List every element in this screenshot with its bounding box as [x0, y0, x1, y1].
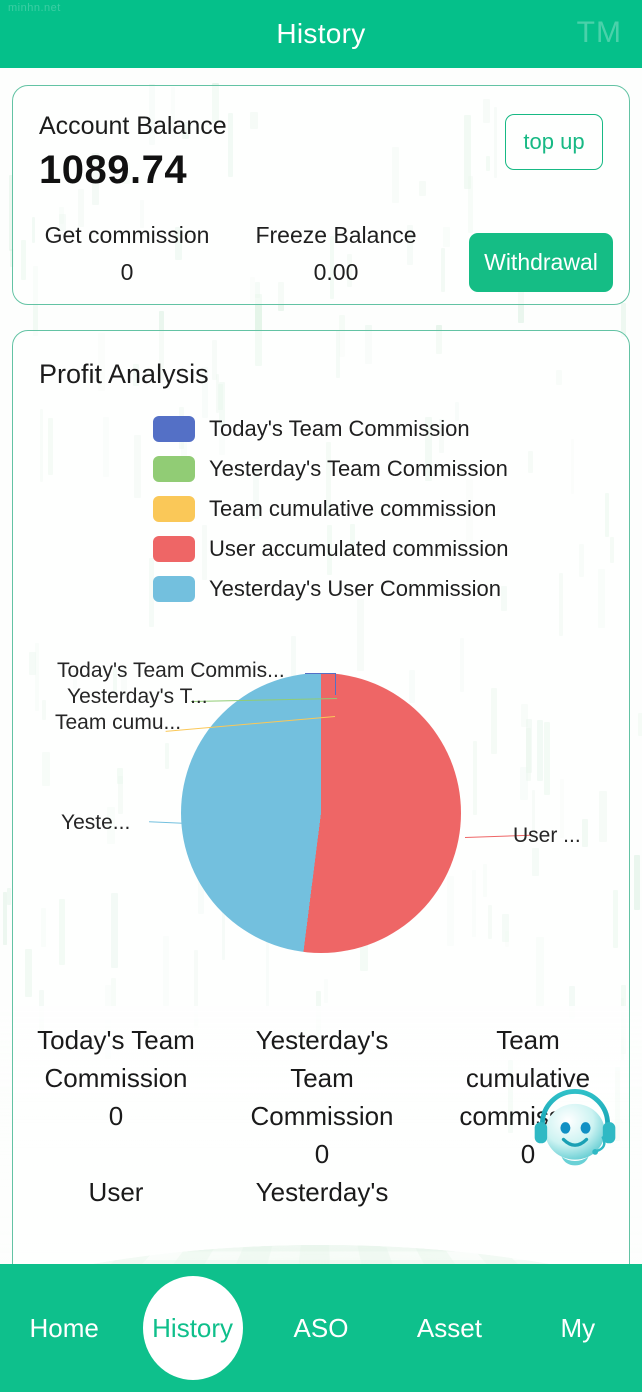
stat-cell: [425, 1173, 631, 1211]
chart-legend[interactable]: Today's Team CommissionYesterday's Team …: [153, 409, 509, 609]
stat-label: Yesterday's: [225, 1173, 419, 1211]
pie-label-yesterday-user: Yeste...: [61, 811, 130, 835]
profit-analysis-title: Profit Analysis: [39, 359, 209, 390]
legend-swatch-icon: [153, 536, 195, 562]
get-commission-metric: Get commission 0: [39, 222, 215, 286]
stat-label: User: [19, 1173, 213, 1211]
legend-item[interactable]: Team cumulative commission: [153, 489, 509, 529]
app-screen: minhn.net History TM Account Balance 108…: [0, 0, 642, 1392]
account-balance-card: Account Balance 1089.74 Get commission 0…: [12, 85, 630, 305]
pie-label-today-team: Today's Team Commis...: [57, 659, 285, 683]
legend-swatch-icon: [153, 576, 195, 602]
leader-line-today-team-vertical: [335, 673, 336, 695]
legend-item[interactable]: Today's Team Commission: [153, 409, 509, 449]
pie-slices[interactable]: [181, 673, 461, 953]
page-body: Account Balance 1089.74 Get commission 0…: [0, 68, 642, 1326]
stat-value: 0: [225, 1135, 419, 1173]
stats-row: UserYesterday's: [13, 1173, 631, 1211]
app-header: minhn.net History TM: [0, 0, 642, 68]
pie-chart[interactable]: Today's Team Commis... Yesterday's T... …: [13, 661, 631, 1001]
customer-service-robot-icon[interactable]: [524, 1078, 626, 1174]
stat-cell: User: [13, 1173, 219, 1211]
pie-label-team-cumulative: Team cumu...: [55, 711, 181, 735]
tab-label: Home: [30, 1313, 99, 1343]
tab-aso[interactable]: ASO: [257, 1264, 385, 1392]
top-up-button[interactable]: top up: [505, 114, 603, 170]
stat-label: Yesterday's Team Commission: [225, 1021, 419, 1135]
legend-swatch-icon: [153, 496, 195, 522]
tab-history[interactable]: History: [128, 1264, 256, 1392]
tab-home[interactable]: Home: [0, 1264, 128, 1392]
page-title: History: [276, 18, 365, 50]
watermark-text: minhn.net: [8, 2, 61, 14]
pie-label-user-accumulated: User ...: [513, 824, 581, 848]
stat-value: 0: [19, 1097, 213, 1135]
leader-line-today-team: [305, 673, 335, 674]
legend-item[interactable]: Yesterday's Team Commission: [153, 449, 509, 489]
legend-swatch-icon: [153, 416, 195, 442]
freeze-balance-metric: Freeze Balance 0.00: [253, 222, 419, 286]
stat-cell: Yesterday's: [219, 1173, 425, 1211]
legend-item-label: User accumulated commission: [209, 536, 509, 562]
get-commission-value: 0: [39, 259, 215, 286]
stat-label: Today's Team Commission: [19, 1021, 213, 1097]
bottom-tab-bar[interactable]: HomeHistoryASOAssetMy: [0, 1264, 642, 1392]
legend-item-label: Yesterday's Team Commission: [209, 456, 508, 482]
legend-item-label: Team cumulative commission: [209, 496, 496, 522]
stat-cell: Today's Team Commission0: [13, 1021, 219, 1173]
stat-cell: Yesterday's Team Commission0: [219, 1021, 425, 1173]
tab-asset[interactable]: Asset: [385, 1264, 513, 1392]
legend-item[interactable]: Yesterday's User Commission: [153, 569, 509, 609]
legend-swatch-icon: [153, 456, 195, 482]
tab-label: My: [560, 1313, 595, 1343]
tab-label: History: [152, 1313, 233, 1343]
tab-label: Asset: [417, 1313, 482, 1343]
freeze-balance-value: 0.00: [253, 259, 419, 286]
tab-my[interactable]: My: [514, 1264, 642, 1392]
legend-item-label: Today's Team Commission: [209, 416, 470, 442]
withdrawal-button[interactable]: Withdrawal: [469, 233, 613, 292]
pie-label-yesterday-team: Yesterday's T...: [67, 685, 208, 709]
legend-item-label: Yesterday's User Commission: [209, 576, 501, 602]
account-balance-label: Account Balance: [39, 112, 227, 141]
get-commission-label: Get commission: [39, 222, 215, 249]
legend-item[interactable]: User accumulated commission: [153, 529, 509, 569]
tab-label: ASO: [294, 1313, 349, 1343]
freeze-balance-label: Freeze Balance: [253, 222, 419, 249]
brand-mark: TM: [577, 16, 622, 50]
account-balance-value: 1089.74: [39, 148, 187, 193]
